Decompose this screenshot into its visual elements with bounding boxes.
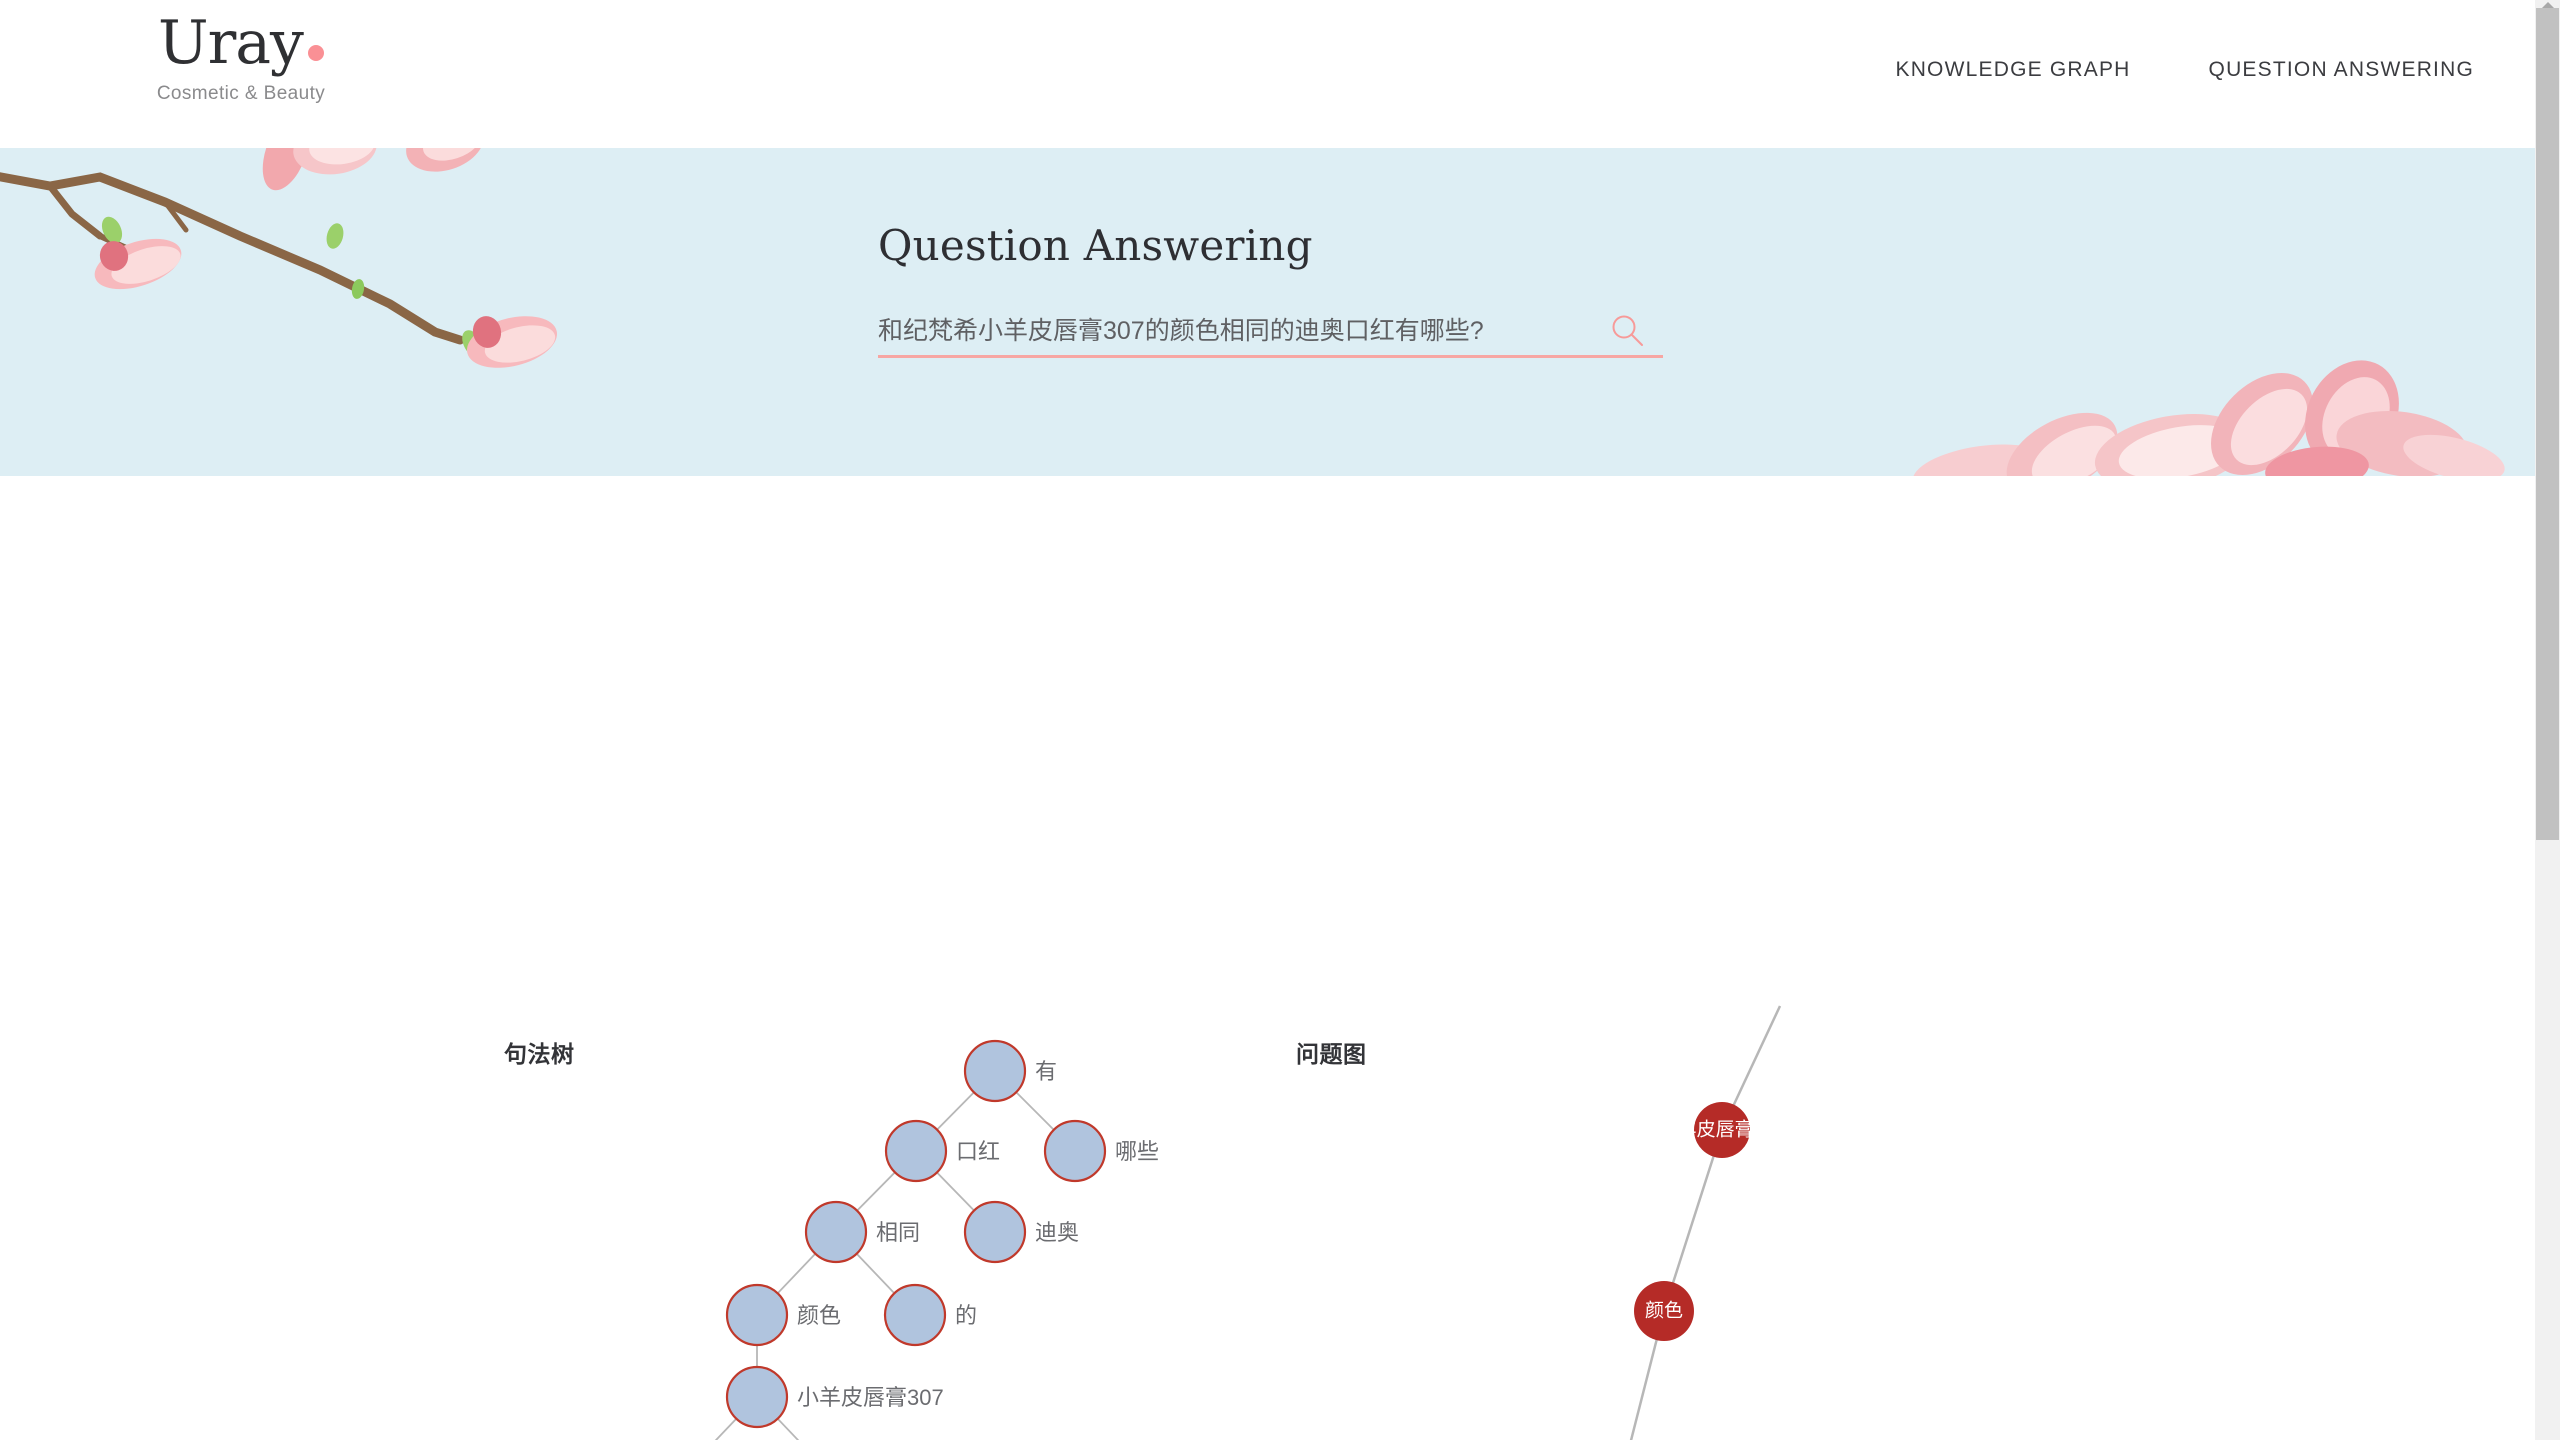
magnolia-bloom-illustration [1842,244,2542,476]
tree-node[interactable] [965,1041,1025,1101]
search-input[interactable] [878,312,1578,356]
syntax-tree-viz: 有口红哪些相同迪奥颜色的小羊皮唇膏307纪梵希的和 [648,1041,1159,1440]
nav-link-knowledge-graph[interactable]: KNOWLEDGE GRAPH [1895,58,2130,82]
tree-node-label: 的 [955,1303,977,1328]
tree-node[interactable] [727,1285,787,1345]
hero-banner: Question Answering [0,148,2560,476]
tree-node-label: 口红 [956,1139,1000,1164]
tree-node[interactable] [885,1285,945,1345]
tree-node[interactable] [886,1121,946,1181]
page-root: Uray Cosmetic & Beauty KNOWLEDGE GRAPH Q… [0,0,2560,1440]
tree-node[interactable] [727,1367,787,1427]
brand-wordmark: Uray [126,12,356,75]
tree-node-label: 小羊皮唇膏307 [797,1385,944,1410]
graph-node-label: 小羊皮唇膏307 [1659,1118,1786,1141]
page-scrollbar[interactable] [2535,0,2560,1440]
scrollbar-thumb[interactable] [2536,8,2559,840]
graph-node-label: 颜色 [1645,1300,1683,1322]
visualizations-canvas: 有口红哪些相同迪奥颜色的小羊皮唇膏307纪梵希的和小羊皮唇膏307颜色口红哪些迪… [0,476,2560,1440]
tree-node-label: 哪些 [1115,1139,1159,1164]
tree-node[interactable] [806,1202,866,1262]
nav-link-question-answering[interactable]: QUESTION ANSWERING [2209,58,2474,82]
question-graph-viz: 小羊皮唇膏307颜色口红哪些迪奥 [1411,1006,1785,1440]
tree-node-label: 颜色 [797,1303,841,1328]
tree-node-label: 迪奥 [1035,1220,1079,1245]
brand-tagline: Cosmetic & Beauty [126,83,356,105]
magnolia-branch-illustration [0,148,630,444]
main-nav: KNOWLEDGE GRAPH QUESTION ANSWERING [1895,58,2474,82]
brand-dot-icon [308,45,324,61]
site-header: Uray Cosmetic & Beauty KNOWLEDGE GRAPH Q… [0,0,2560,148]
tree-node-label: 相同 [876,1220,920,1245]
tree-node-label: 有 [1035,1059,1057,1084]
brand-name: Uray [158,12,303,75]
brand-logo[interactable]: Uray Cosmetic & Beauty [126,12,356,105]
page-title: Question Answering [878,148,1778,270]
hero-content: Question Answering [878,148,1778,358]
search-bar [878,312,1663,358]
tree-node[interactable] [1045,1121,1105,1181]
search-icon[interactable] [1611,314,1645,348]
tree-node[interactable] [965,1202,1025,1262]
